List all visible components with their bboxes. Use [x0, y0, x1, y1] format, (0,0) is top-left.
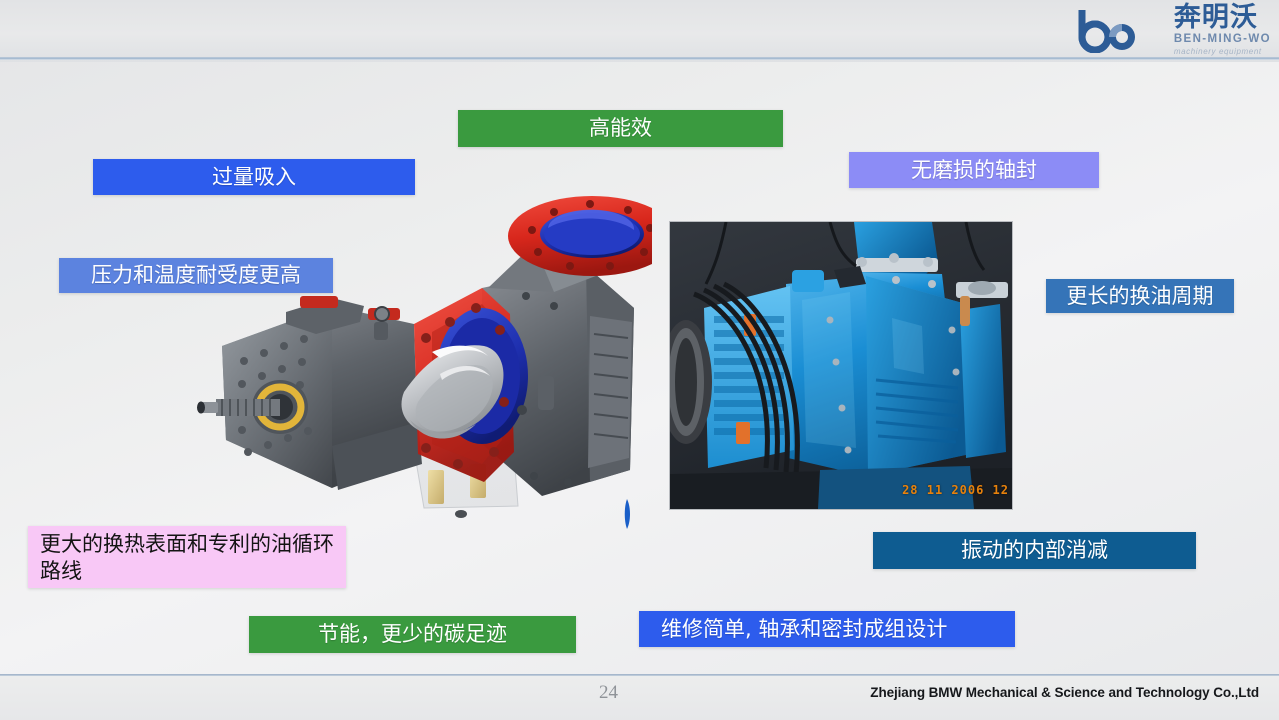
callout-label: 振动的内部消减 — [961, 537, 1108, 564]
logo-english-name: BEN-MING-WO — [1174, 34, 1271, 46]
company-logo: 奔明沃 BEN-MING-WO machinery equipment — [1023, 2, 1271, 58]
logo-tagline: machinery equipment — [1174, 48, 1262, 56]
callout-vibration-damping[interactable]: 振动的内部消减 — [873, 532, 1196, 569]
bo-monogram-icon — [1076, 7, 1168, 53]
stray-blue-mark-icon — [618, 497, 636, 531]
company-name: Zhejiang BMW Mechanical & Science and Te… — [870, 685, 1259, 700]
callout-pressure-temperature[interactable]: 压力和温度耐受度更高 — [59, 258, 333, 293]
slide-canvas: 奔明沃 BEN-MING-WO machinery equipment — [0, 0, 1279, 720]
callout-label: 压力和温度耐受度更高 — [91, 262, 301, 289]
callout-no-wear-shaft-seal[interactable]: 无磨损的轴封 — [849, 152, 1099, 188]
callout-label: 高能效 — [589, 115, 652, 142]
callout-energy-saving[interactable]: 节能，更少的碳足迹 — [249, 616, 576, 653]
screw-compressor-cad-illustration — [182, 196, 652, 544]
callout-label: 维修简单, 轴承和密封成组设计 — [661, 616, 947, 643]
callout-heat-exchange-surface[interactable]: 更大的换热表面和专利的油循环路线 — [28, 526, 346, 588]
callout-label: 节能，更少的碳足迹 — [318, 621, 507, 648]
photo-timestamp: 28 11 2006 12 — [902, 483, 1009, 497]
blue-compressor-photo: 28 11 2006 12 — [669, 221, 1013, 510]
callout-label: 更大的换热表面和专利的油循环路线 — [40, 531, 336, 585]
logo-chinese-name: 奔明沃 — [1174, 4, 1258, 31]
callout-easy-maintenance[interactable]: 维修简单, 轴承和密封成组设计 — [639, 611, 1015, 647]
logo-text-block: 奔明沃 BEN-MING-WO machinery equipment — [1174, 4, 1271, 56]
slide-footer: 24 Zhejiang BMW Mechanical & Science and… — [0, 676, 1279, 720]
callout-label: 更长的换油周期 — [1067, 283, 1214, 310]
callout-label: 过量吸入 — [212, 164, 296, 191]
callout-over-suction[interactable]: 过量吸入 — [93, 159, 415, 195]
callout-oil-change-cycle[interactable]: 更长的换油周期 — [1046, 279, 1234, 313]
callout-label: 无磨损的轴封 — [911, 157, 1037, 184]
callout-high-efficiency[interactable]: 高能效 — [458, 110, 783, 147]
page-number: 24 — [599, 682, 618, 704]
